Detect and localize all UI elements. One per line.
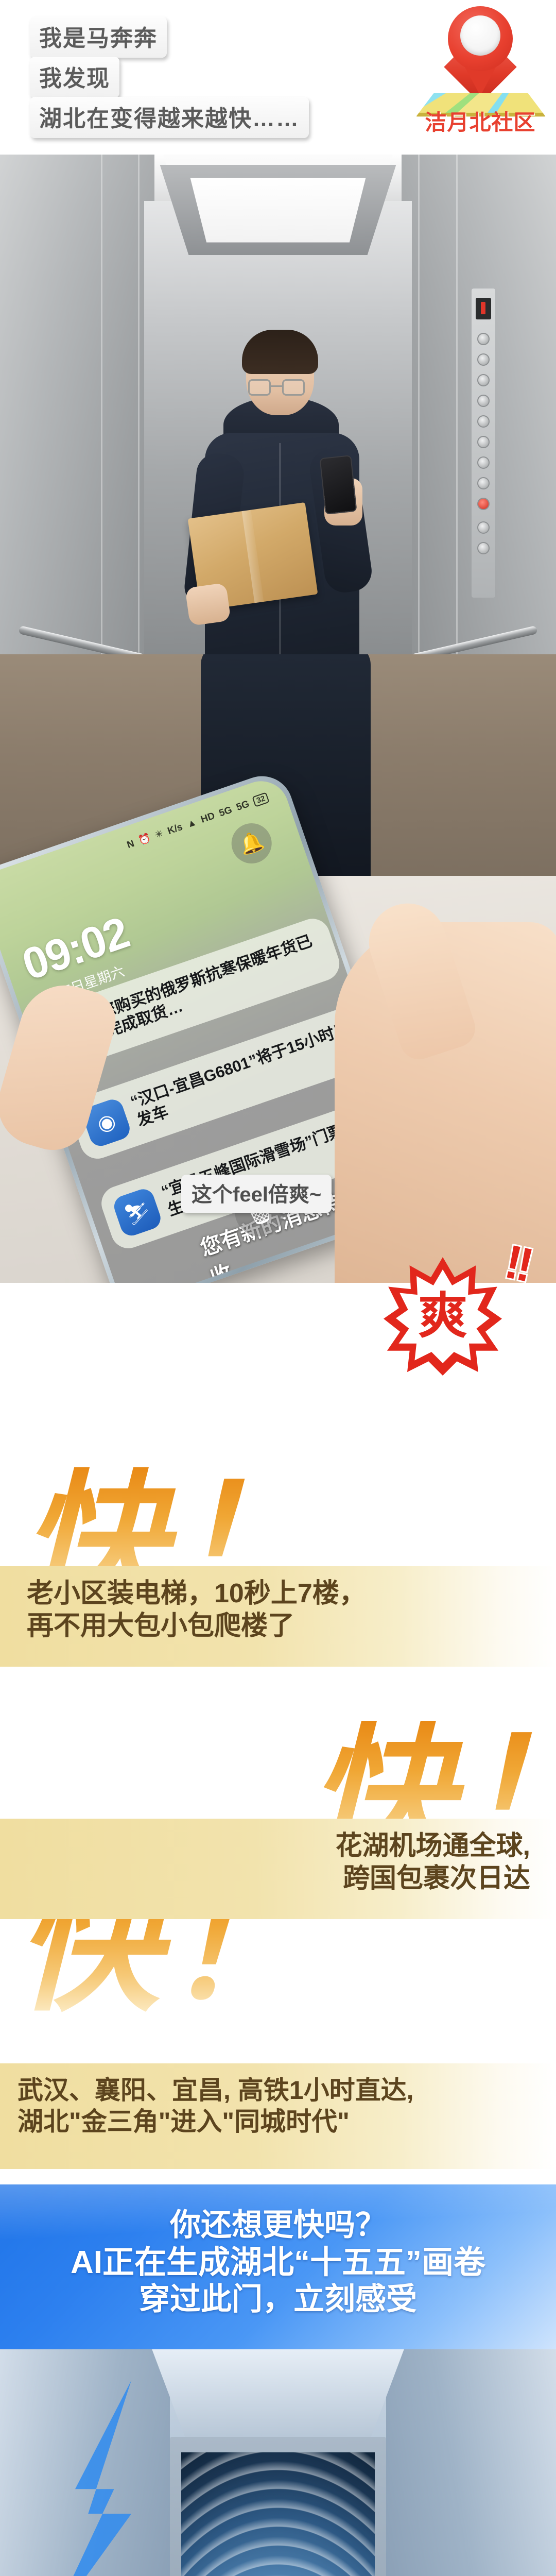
elevator-button[interactable] — [477, 374, 490, 386]
glasses-lens-right — [282, 379, 305, 396]
smartphone — [319, 455, 357, 515]
map-pin-hole — [460, 15, 500, 56]
fast-band-1-line-1: 老小区装电梯，10秒上7楼， — [0, 1578, 556, 1610]
time-tunnel-vortex — [181, 2452, 375, 2576]
fast-band-2-line-2: 跨国包裹次日达 — [0, 1862, 556, 1895]
fast-band-1-line-2: 再不用大包小包爬楼了 — [0, 1610, 556, 1642]
portal-elevator-photo: !! — [0, 2349, 556, 2576]
intro-line-2: 我发现 — [30, 57, 119, 98]
elevator-button-panel[interactable] — [472, 289, 495, 598]
elevator-button[interactable] — [477, 436, 490, 448]
intro-line-3: 湖北在变得越来越快…… — [30, 97, 309, 138]
wall-seam — [138, 118, 140, 742]
burst-exclamation: !! — [500, 1234, 534, 1292]
blue-cta-banner: 你还想更快吗？ AI正在生成湖北“十五五”画卷 穿过此门，立刻感受 — [0, 2184, 556, 2349]
signal-icon-1: 5G — [218, 805, 233, 818]
blue-banner-line-2: AI正在生成湖北“十五五”画卷 — [0, 2244, 556, 2281]
feel-caption: 这个feel倍爽~ — [181, 1175, 332, 1213]
fast-band-3-line-2: 湖北"金三角"进入"同城时代" — [0, 2106, 556, 2138]
elevator-button[interactable] — [477, 477, 490, 489]
wifi-icon: ▲ — [185, 817, 198, 829]
bluetooth-icon: ✳ — [153, 828, 164, 840]
nfc-icon: N — [126, 838, 135, 850]
notification-settings-bell-icon[interactable]: 🔔 — [226, 818, 277, 869]
hand-left — [185, 583, 231, 626]
netspeed-label: K/s — [166, 822, 184, 836]
portal-wall-right — [386, 2349, 556, 2576]
elevator-floor-display — [476, 298, 491, 319]
elevator-button[interactable] — [477, 542, 490, 554]
elevator-wall-left — [0, 118, 154, 742]
phone-notification-photo: N ⏰ ✳ K/s ▲ HD 5G 5G 32 🔔 09:02 12月7日星期六 — [0, 654, 556, 1283]
fast-band-2: 花湖机场通全球, 跨国包裹次日达 — [0, 1819, 556, 1919]
hd-icon: HD — [200, 811, 216, 825]
elevator-button[interactable] — [477, 333, 490, 345]
fast-band-1: 老小区装电梯，10秒上7楼， 再不用大包小包爬楼了 — [0, 1566, 556, 1667]
brand-logo: 洁月北社区 — [416, 4, 545, 143]
elevator-button[interactable] — [477, 353, 490, 366]
signal-icon-2: 5G — [235, 799, 250, 812]
ski-resort-icon: ⛷ — [111, 1186, 164, 1239]
fast-band-2-line-1: 花湖机场通全球, — [0, 1830, 556, 1862]
blue-banner-line-3: 穿过此门，立刻感受 — [0, 2281, 556, 2318]
brand-name: 洁月北社区 — [416, 105, 545, 137]
fast-band-3-line-1: 武汉、襄阳、宜昌, 高铁1小时直达, — [0, 2075, 556, 2106]
portal-wall-left — [0, 2349, 170, 2576]
shuang-burst-badge: 爽 !! — [378, 1236, 533, 1386]
wall-seam — [418, 118, 420, 742]
alarm-icon: ⏰ — [137, 833, 152, 846]
elevator-button[interactable] — [477, 395, 490, 407]
elevator-photo-delivery-man — [0, 118, 556, 742]
blue-banner-line-1: 你还想更快吗？ — [0, 2207, 556, 2244]
fast-band-3: 武汉、襄阳、宜昌, 高铁1小时直达, 湖北"金三角"进入"同城时代" — [0, 2063, 556, 2169]
glasses-bridge — [271, 385, 282, 387]
elevator-button[interactable] — [477, 415, 490, 428]
intro-line-1: 我是马奔奔 — [30, 16, 167, 58]
map-pin-icon — [448, 6, 513, 94]
hair — [242, 330, 318, 374]
poster-page: 我是马奔奔 我发现 湖北在变得越来越快…… 洁月北社区 N ⏰ ✳ — [0, 0, 556, 2576]
burst-character: 爽 — [418, 1292, 467, 1341]
battery-indicator: 32 — [252, 792, 270, 807]
elevator-button[interactable] — [477, 521, 490, 534]
elevator-button[interactable] — [477, 456, 490, 469]
elevator-alarm-button[interactable] — [477, 498, 490, 510]
glasses-lens-left — [248, 379, 271, 396]
